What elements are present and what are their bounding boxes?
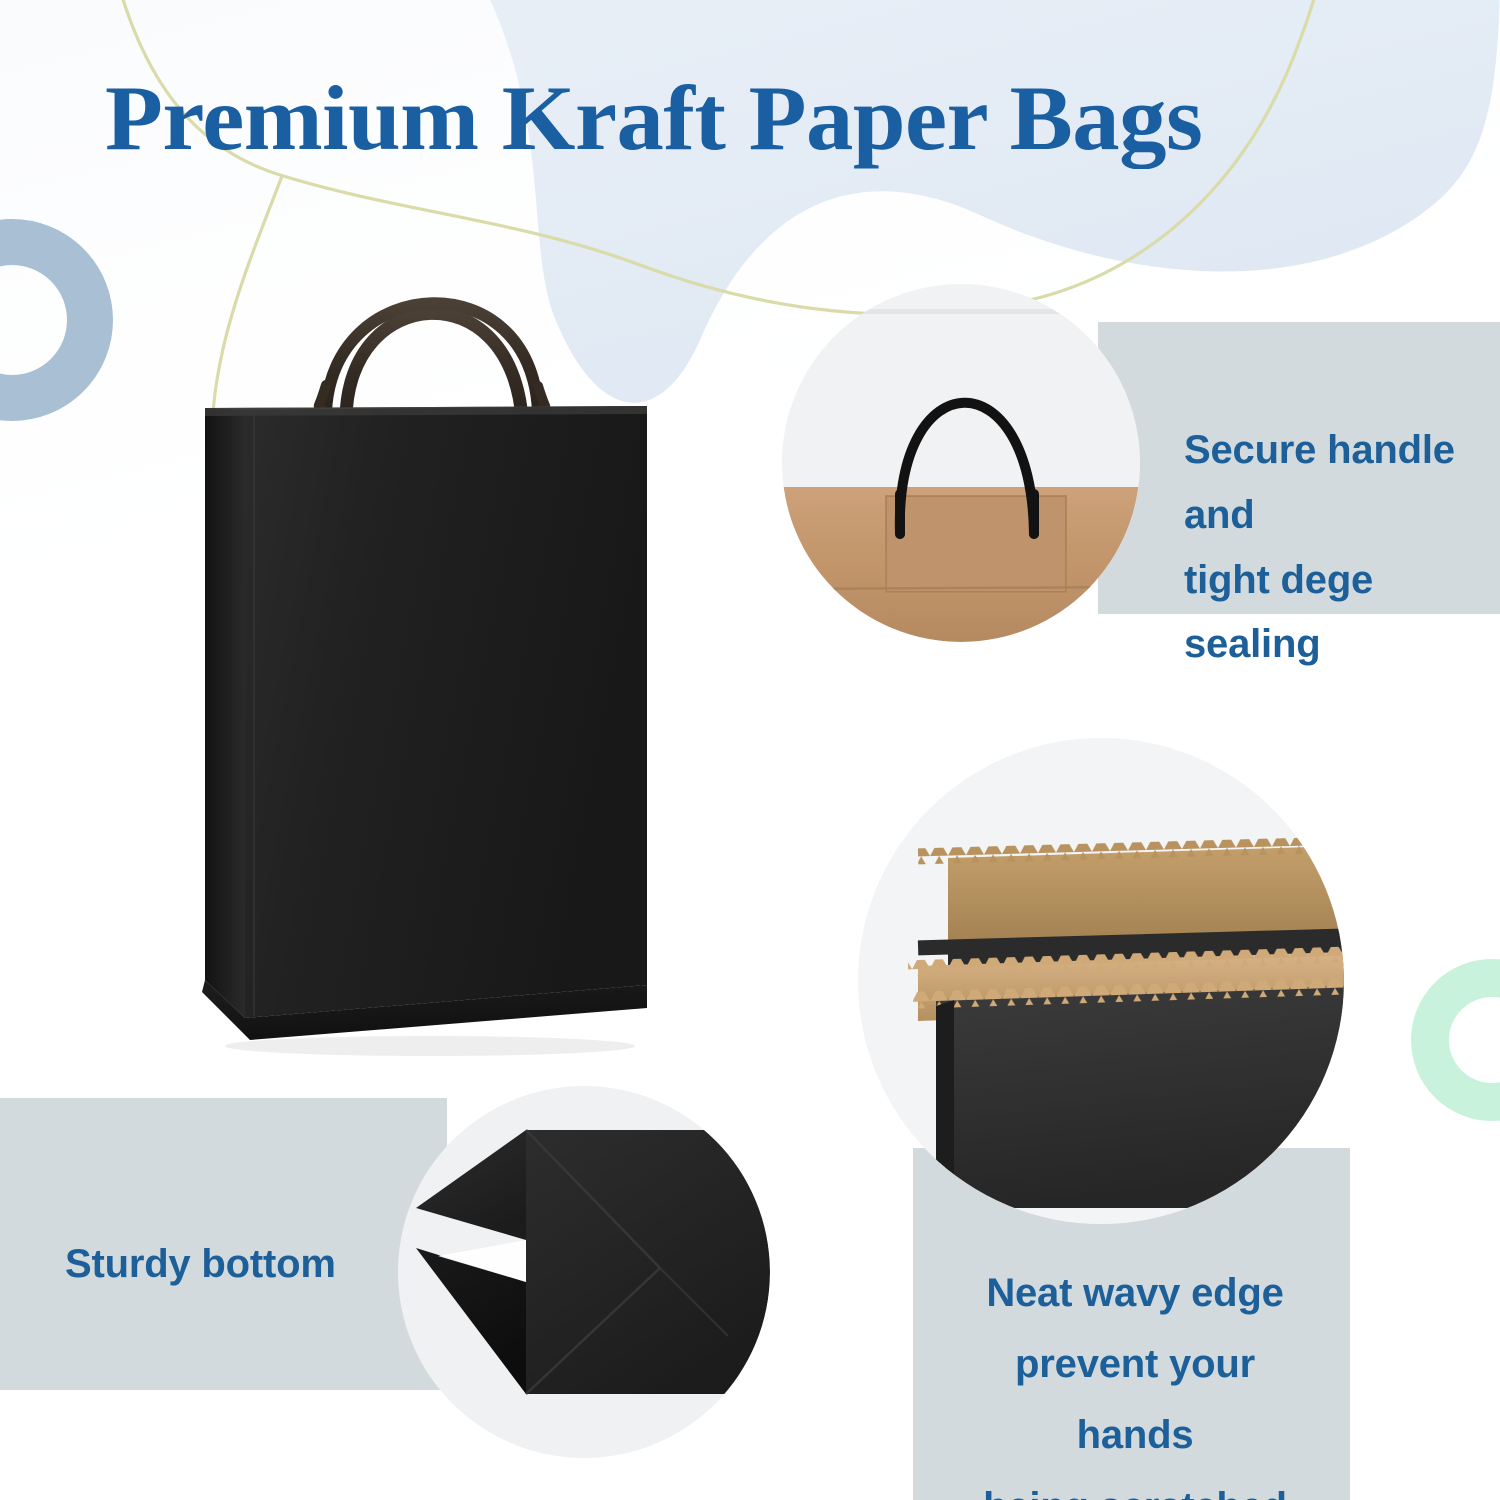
bag-handles — [319, 303, 546, 418]
caption-wavy-edge: Neat wavy edge prevent your hands being … — [960, 1258, 1310, 1500]
bag-front-panel — [245, 406, 647, 1018]
caption-line: being scratched — [960, 1472, 1310, 1500]
detail-photo-secure-handle — [782, 284, 1140, 642]
caption-secure-handle: Secure handle and tight dege sealing — [1184, 418, 1500, 677]
caption-line: tight dege sealing — [1184, 548, 1500, 678]
caption-sturdy-bottom: Sturdy bottom — [65, 1232, 395, 1297]
bag-side-gusset — [205, 408, 245, 1018]
page-title: Premium Kraft Paper Bags — [105, 72, 1465, 166]
infographic-canvas: Premium Kraft Paper Bags — [0, 0, 1500, 1500]
detail-photo-sturdy-bottom — [398, 1086, 770, 1458]
caption-line: Neat wavy edge — [960, 1258, 1310, 1329]
bag-shadow — [225, 1036, 635, 1056]
caption-line: prevent your hands — [960, 1329, 1310, 1471]
caption-line: Secure handle and — [1184, 418, 1500, 548]
bag-bottom-block — [526, 1130, 770, 1394]
detail-photo-wavy-edge — [858, 738, 1344, 1224]
hero-product-image — [150, 180, 690, 1070]
caption-line: Sturdy bottom — [65, 1232, 395, 1297]
